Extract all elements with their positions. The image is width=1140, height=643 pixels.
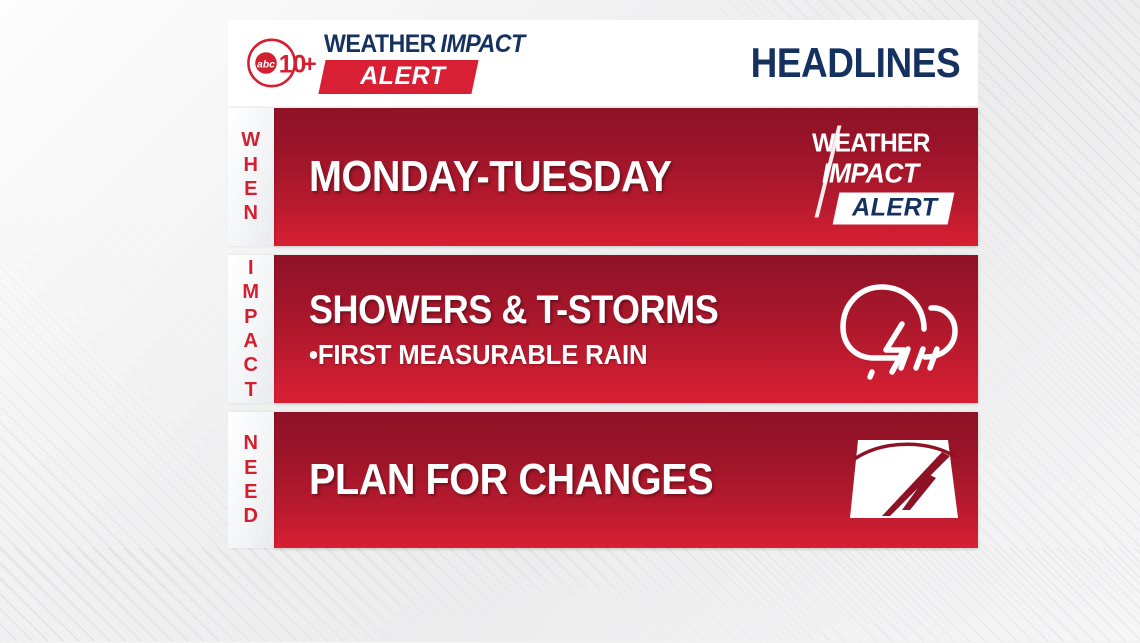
badge-weather-text: WEATHER <box>812 130 930 156</box>
row-body-when: MONDAY-TUESDAY WEATHER IMPACT ALERT <box>274 108 978 246</box>
windshield-wiper-glyph <box>832 426 972 534</box>
row-label-letter: W <box>241 128 260 152</box>
row-headline: MONDAY-TUESDAY <box>309 155 672 199</box>
row-body-need: PLAN FOR CHANGES <box>274 412 978 548</box>
row-label-letter: A <box>244 329 259 353</box>
background-stripes-lower-band <box>0 548 1140 643</box>
row-label-letter: M <box>242 280 259 304</box>
headline-row-when: W H E N MONDAY-TUESDAY WEATHER IMPACT AL… <box>228 108 978 246</box>
page-title: HEADLINES <box>750 39 960 87</box>
windshield-wiper-icon <box>832 426 972 534</box>
row-body-impact: SHOWERS & T-STORMS •FIRST MEASURABLE RAI… <box>274 255 978 403</box>
brand-impact-word: IMPACT <box>441 30 525 58</box>
headline-row-impact: I M P A C T SHOWERS & T-STORMS •FIRST ME… <box>228 255 978 403</box>
row-label-letter: T <box>245 378 258 402</box>
brand-alert-text: ALERT <box>360 64 445 89</box>
row-label-impact: I M P A C T <box>228 255 274 403</box>
row-text-need: PLAN FOR CHANGES <box>309 458 758 502</box>
abc10-plus-circle-logo-icon: abc 10 + <box>242 35 322 91</box>
weather-impact-alert-lockup: WEATHERIMPACT ALERT <box>324 32 540 94</box>
station-logo-lockup: abc 10 + WEATHERIMPACT ALERT <box>242 32 540 94</box>
row-label-letter: E <box>244 177 258 201</box>
brand-weather-impact-text: WEATHERIMPACT <box>324 32 525 57</box>
weather-headlines-card: abc 10 + WEATHERIMPACT ALERT HEADLINES W… <box>228 20 978 548</box>
row-label-when: W H E N <box>228 108 274 246</box>
row-subline: •FIRST MEASURABLE RAIN <box>309 341 727 369</box>
badge-alert-bar: ALERT <box>833 193 955 225</box>
row-label-letter: N <box>244 201 259 225</box>
badge-alert-text: ALERT <box>852 196 937 221</box>
row-text-impact: SHOWERS & T-STORMS •FIRST MEASURABLE RAI… <box>309 290 764 369</box>
thunderstorm-glyph <box>832 267 972 391</box>
row-label-letter: N <box>244 431 259 455</box>
row-label-letter: E <box>244 480 258 504</box>
row-label-letter: I <box>248 256 254 280</box>
row-headline: SHOWERS & T-STORMS <box>309 290 718 330</box>
svg-text:+: + <box>303 51 317 78</box>
brand-weather-word: WEATHER <box>324 30 436 58</box>
badge-impact-text: IMPACT <box>822 160 919 188</box>
svg-text:abc: abc <box>257 59 275 70</box>
row-text-when: MONDAY-TUESDAY <box>309 155 712 199</box>
thunderstorm-rain-cloud-icon <box>832 267 972 391</box>
row-label-letter: D <box>244 504 259 528</box>
brand-alert-bar: ALERT <box>318 60 479 94</box>
row-label-need: N E E D <box>228 412 274 548</box>
row-headline: PLAN FOR CHANGES <box>309 458 713 502</box>
badge-lockup: WEATHER IMPACT ALERT <box>804 130 972 225</box>
row-label-letter: C <box>244 353 259 377</box>
card-header: abc 10 + WEATHERIMPACT ALERT HEADLINES <box>228 20 978 106</box>
row-label-letter: H <box>244 153 259 177</box>
weather-impact-alert-badge-icon: WEATHER IMPACT ALERT <box>804 130 972 225</box>
row-label-letter: E <box>244 456 258 480</box>
headline-row-need: N E E D PLAN FOR CHANGES <box>228 412 978 548</box>
row-label-letter: P <box>244 305 258 329</box>
